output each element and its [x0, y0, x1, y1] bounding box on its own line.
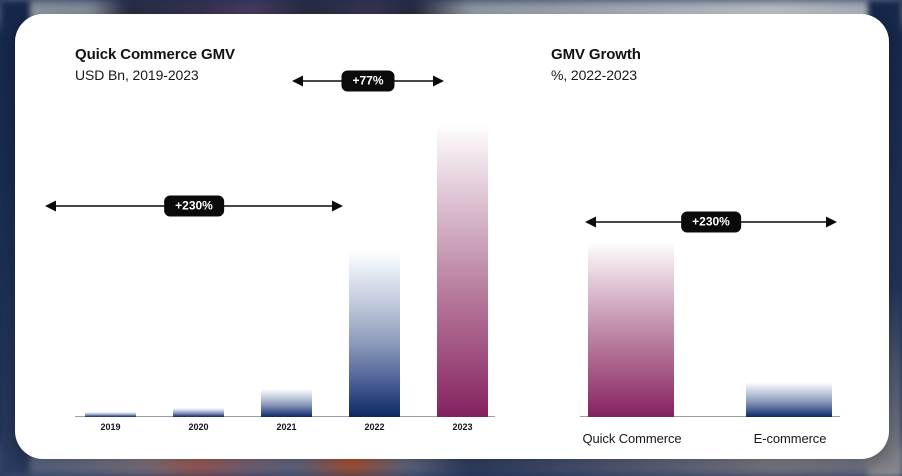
- tick-label-2021: 2021: [261, 422, 312, 432]
- tick-label-2020: 2020: [173, 422, 224, 432]
- annotation-plus-77: +77%: [292, 70, 444, 92]
- slide-card: Quick Commerce GMV USD Bn, 2019-2023 +77…: [15, 14, 889, 459]
- tick-label-2022: 2022: [349, 422, 400, 432]
- annotation-pill-label: +77%: [341, 71, 394, 92]
- left-chart-title: Quick Commerce GMV: [75, 46, 235, 63]
- bar-quick-commerce[interactable]: [588, 242, 674, 417]
- bar-2022[interactable]: [349, 251, 400, 417]
- right-chart-panel: GMV Growth %, 2022-2023 +230% Quick Comm…: [515, 14, 889, 459]
- right-chart-plot: Quick Commerce E-commerce: [580, 229, 840, 417]
- right-chart-title: GMV Growth: [551, 46, 641, 63]
- left-chart-panel: Quick Commerce GMV USD Bn, 2019-2023 +77…: [15, 14, 515, 459]
- screenshot-stage: Quick Commerce GMV USD Bn, 2019-2023 +77…: [0, 0, 902, 476]
- category-label-quick-commerce: Quick Commerce: [574, 431, 690, 446]
- bar-ecommerce[interactable]: [746, 382, 832, 417]
- tick-label-2019: 2019: [85, 422, 136, 432]
- right-chart-subtitle: %, 2022-2023: [551, 67, 637, 83]
- bar-2019[interactable]: [85, 412, 136, 417]
- tick-label-2023: 2023: [437, 422, 488, 432]
- bar-2023[interactable]: [437, 125, 488, 417]
- category-label-ecommerce: E-commerce: [732, 431, 848, 446]
- left-chart-plot: 2019 2020 2021 2022 2023: [75, 109, 495, 417]
- bar-2021[interactable]: [261, 389, 312, 417]
- bar-2020[interactable]: [173, 408, 224, 417]
- left-chart-subtitle: USD Bn, 2019-2023: [75, 67, 199, 83]
